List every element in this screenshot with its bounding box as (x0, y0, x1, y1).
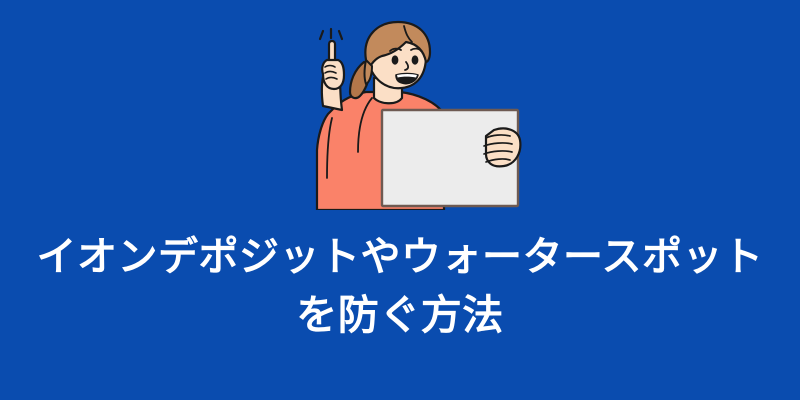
banner-background: イオンデポジットやウォータースポット を防ぐ方法 (0, 0, 800, 400)
woman-illustration (296, 18, 526, 210)
title-line-1: イオンデポジットやウォータースポット (0, 228, 800, 286)
right-eye (412, 55, 419, 64)
gripping-hand-icon (484, 128, 520, 166)
sparkle-lines-icon (320, 29, 342, 39)
title-block: イオンデポジットやウォータースポット を防ぐ方法 (0, 228, 800, 344)
left-eye (392, 55, 399, 64)
pointing-hand-icon (322, 41, 344, 89)
hair-side-strand (365, 60, 373, 84)
title-line-2: を防ぐ方法 (0, 286, 800, 344)
